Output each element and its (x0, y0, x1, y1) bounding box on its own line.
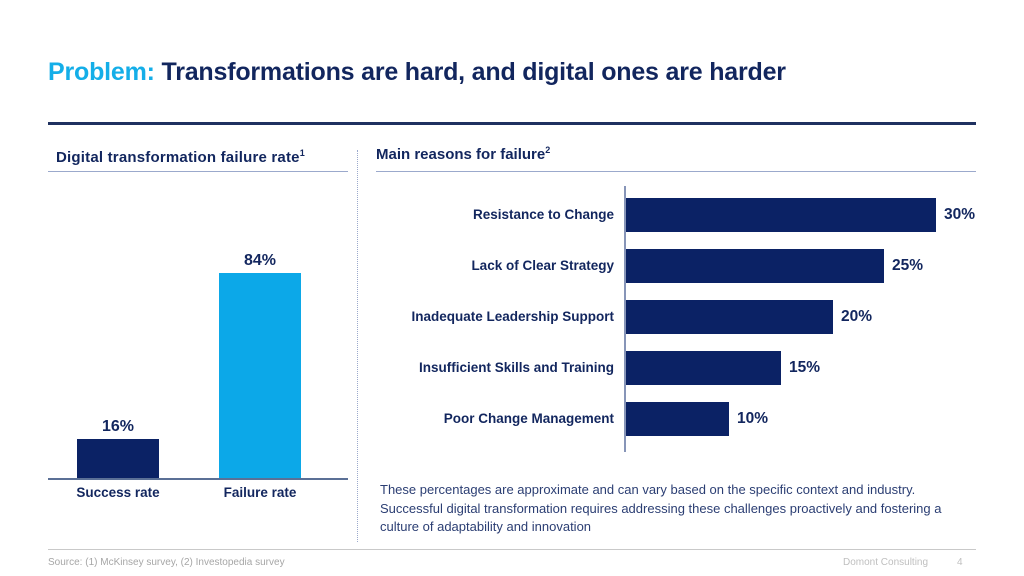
right-chart-category-label: Insufficient Skills and Training (376, 351, 614, 385)
right-chart-row: Poor Change Management10% (376, 402, 976, 436)
right-chart-row: Inadequate Leadership Support20% (376, 300, 976, 334)
left-chart-bar (77, 439, 159, 478)
page-title: Problem: Transformations are hard, and d… (48, 58, 786, 87)
left-chart-bar (219, 273, 301, 478)
footer-page-number: 4 (957, 557, 963, 568)
right-panel-heading-divider (376, 171, 976, 172)
right-panel-heading-text: Main reasons for failure (376, 146, 545, 163)
right-chart-row: Insufficient Skills and Training15% (376, 351, 976, 385)
right-chart-value-label: 25% (892, 249, 923, 283)
panel-divider (357, 150, 358, 542)
left-panel-heading-divider (48, 171, 348, 172)
right-chart-category-label: Resistance to Change (376, 198, 614, 232)
right-chart-category-label: Lack of Clear Strategy (376, 249, 614, 283)
right-chart-value-label: 10% (737, 402, 768, 436)
right-panel-heading-superscript: 2 (545, 145, 550, 155)
left-chart-category-label: Failure rate (205, 485, 315, 500)
footer-source: Source: (1) McKinsey survey, (2) Investo… (48, 557, 285, 568)
right-chart-bar (626, 198, 936, 232)
left-chart-bar-group: 16% (77, 418, 159, 478)
right-chart-row: Lack of Clear Strategy25% (376, 249, 976, 283)
left-panel-heading-superscript: 1 (300, 148, 305, 158)
failure-rate-bar-chart: 16%Success rate84%Failure rate (48, 190, 348, 480)
right-panel-heading: Main reasons for failure2 (376, 145, 550, 163)
left-chart-bar-group: 84% (219, 252, 301, 478)
footer-brand: Domont Consulting (843, 557, 928, 568)
left-chart-category-label: Success rate (63, 485, 173, 500)
right-panel-note: These percentages are approximate and ca… (380, 481, 954, 537)
right-chart-category-label: Poor Change Management (376, 402, 614, 436)
right-chart-row: Resistance to Change30% (376, 198, 976, 232)
footer-divider (48, 549, 976, 550)
right-chart-bar (626, 249, 884, 283)
page-title-accent: Problem: (48, 58, 155, 86)
left-chart-value-label: 16% (77, 418, 159, 436)
failure-reasons-bar-chart: Resistance to Change30%Lack of Clear Str… (376, 186, 976, 452)
left-panel-heading-text: Digital transformation failure rate (56, 149, 300, 166)
left-panel-heading: Digital transformation failure rate1 (56, 148, 305, 166)
right-chart-value-label: 20% (841, 300, 872, 334)
right-chart-value-label: 15% (789, 351, 820, 385)
left-chart-baseline (48, 478, 348, 480)
right-chart-category-label: Inadequate Leadership Support (376, 300, 614, 334)
right-chart-value-label: 30% (944, 198, 975, 232)
page-title-rest: Transformations are hard, and digital on… (162, 58, 786, 86)
right-chart-bar (626, 300, 833, 334)
slide-canvas: Problem: Transformations are hard, and d… (0, 0, 1024, 576)
right-chart-bar (626, 351, 781, 385)
right-chart-bar (626, 402, 729, 436)
left-chart-value-label: 84% (219, 252, 301, 270)
title-divider (48, 122, 976, 125)
